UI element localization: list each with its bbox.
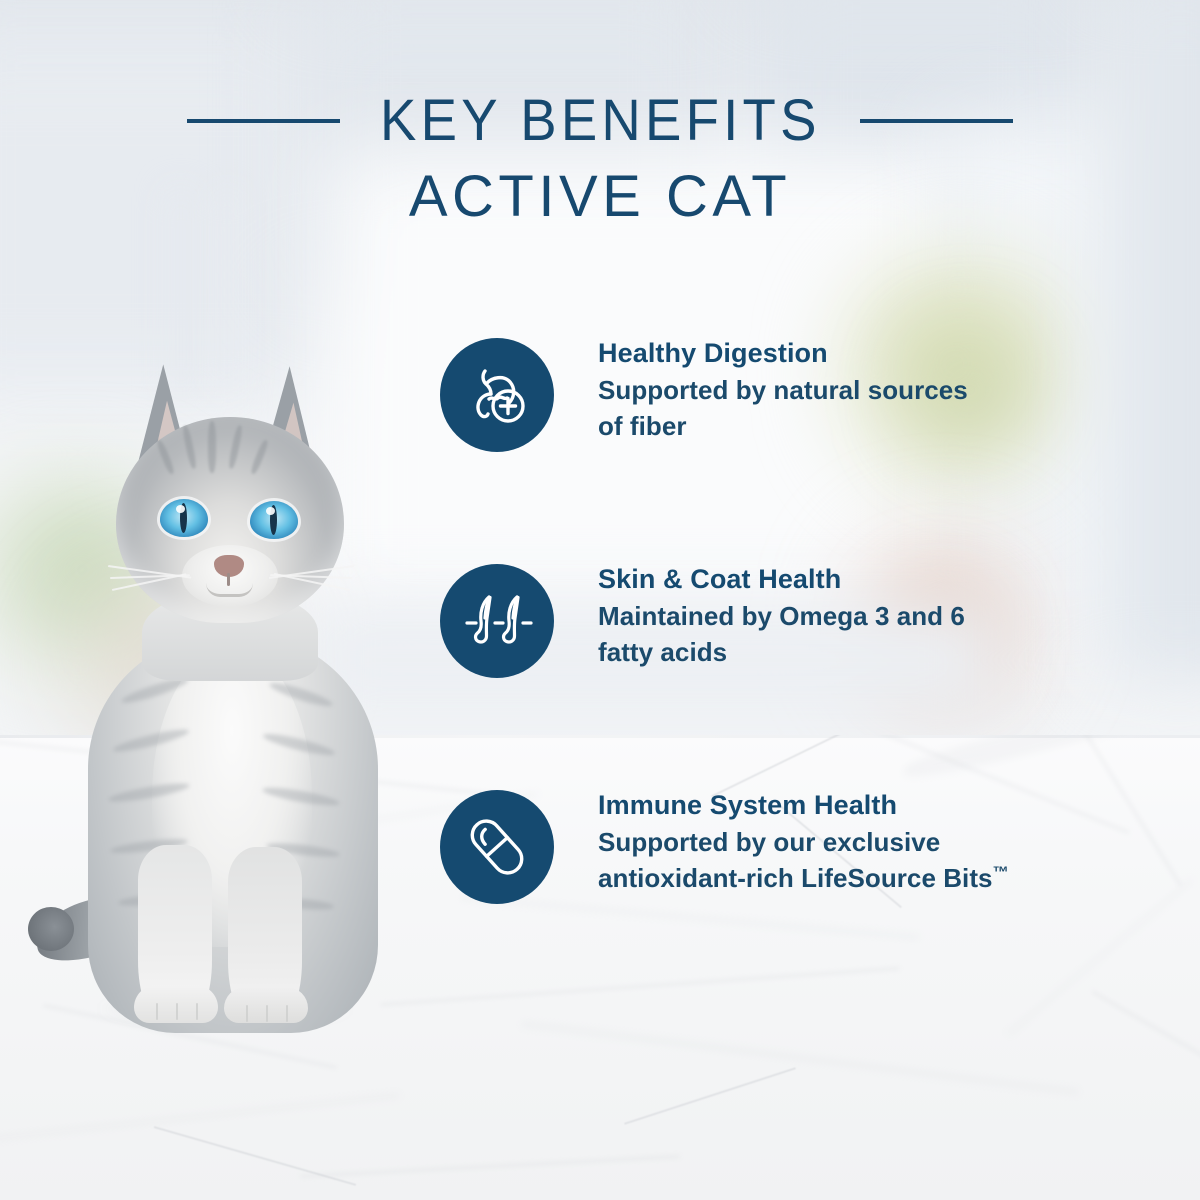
stomach-plus-icon: [461, 359, 533, 431]
cat-photo: [10, 355, 440, 1045]
benefit-desc-line-1: Supported by our exclusive: [598, 827, 940, 857]
benefit-item-skin-coat-health: Skin & Coat Health Maintained by Omega 3…: [440, 564, 1160, 790]
title-line-2: ACTIVE CAT: [409, 164, 791, 229]
benefit-text: Immune System Health Supported by our ex…: [598, 788, 1158, 897]
benefit-icon-badge: [440, 338, 554, 452]
benefit-item-healthy-digestion: Healthy Digestion Supported by natural s…: [440, 338, 1160, 564]
benefit-icon-badge: [440, 790, 554, 904]
benefit-text: Skin & Coat Health Maintained by Omega 3…: [598, 562, 1158, 671]
benefit-desc-line-1: Supported by natural sources: [598, 375, 968, 405]
title-line-1: KEY BENEFITS: [380, 92, 821, 150]
benefit-title: Immune System Health: [598, 788, 1158, 823]
benefit-item-immune-system-health: Immune System Health Supported by our ex…: [440, 790, 1160, 1016]
benefit-description: Supported by our exclusive antioxidant-r…: [598, 824, 1158, 898]
benefit-description: Supported by natural sources of fiber: [598, 372, 1158, 446]
hair-follicle-icon: [459, 585, 535, 657]
benefit-icon-badge: [440, 564, 554, 678]
title-rule-right: [860, 119, 1013, 123]
promo-image: KEY BENEFITS ACTIVE CAT: [0, 0, 1200, 1200]
benefits-list: Healthy Digestion Supported by natural s…: [440, 338, 1160, 1016]
benefit-desc-line-1: Maintained by Omega 3 and 6: [598, 601, 965, 631]
title-rule-left: [187, 119, 340, 123]
benefit-desc-line-2: of fiber: [598, 411, 687, 441]
page-title: KEY BENEFITS ACTIVE CAT: [0, 92, 1200, 226]
benefit-title: Skin & Coat Health: [598, 562, 1158, 597]
benefit-desc-line-2: fatty acids: [598, 637, 727, 667]
benefit-description: Maintained by Omega 3 and 6 fatty acids: [598, 598, 1158, 672]
benefit-title: Healthy Digestion: [598, 336, 1158, 371]
trademark-symbol: ™: [993, 864, 1009, 882]
benefit-text: Healthy Digestion Supported by natural s…: [598, 336, 1158, 445]
benefit-desc-line-2: antioxidant-rich LifeSource Bits: [598, 863, 993, 893]
capsule-pill-icon: [461, 811, 533, 883]
